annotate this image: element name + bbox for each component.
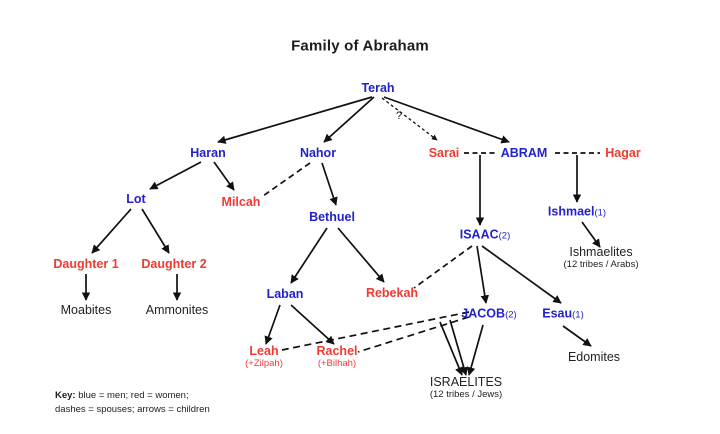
legend: Key: blue = men; red = women; dashes = s… bbox=[55, 389, 210, 417]
node-jacob-label: JACOB bbox=[461, 307, 505, 321]
node-moabites-label: Moabites bbox=[61, 303, 112, 317]
node-ishmael[interactable]: Ishmael(1) bbox=[548, 205, 606, 220]
node-hagar[interactable]: Hagar bbox=[605, 146, 640, 160]
edge-leah-israelites bbox=[450, 320, 466, 375]
node-daughter-2-label: Daughter 2 bbox=[141, 257, 206, 271]
node-daughter-1-label: Daughter 1 bbox=[53, 257, 118, 271]
node-rebekah-label: Rebekah bbox=[366, 286, 418, 300]
node-rachel-sub: (+Bilhah) bbox=[317, 359, 358, 370]
edge-terah-sarai-uncertain bbox=[382, 98, 437, 140]
edge-laban-rachel bbox=[291, 305, 334, 344]
node-leah[interactable]: Leah (+Zilpah) bbox=[245, 344, 283, 370]
node-rachel[interactable]: Rachel (+Bilhah) bbox=[317, 344, 358, 370]
edge-bethuel-laban bbox=[291, 228, 327, 283]
node-lot[interactable]: Lot bbox=[126, 192, 145, 206]
node-leah-label: Leah bbox=[249, 344, 278, 358]
node-ammonites[interactable]: Ammonites bbox=[146, 303, 209, 317]
edge-layer bbox=[0, 0, 720, 434]
node-edomites-label: Edomites bbox=[568, 350, 620, 364]
legend-line-1: Key: blue = men; red = women; bbox=[55, 389, 210, 403]
node-milcah-label: Milcah bbox=[222, 195, 261, 209]
edge-ishmael-ishmaelites bbox=[582, 222, 600, 247]
node-bethuel[interactable]: Bethuel bbox=[309, 210, 355, 224]
node-isaac[interactable]: ISAAC(2) bbox=[460, 228, 511, 243]
edge-bethuel-rebekah bbox=[338, 228, 384, 282]
node-ishmael-ordinal: (1) bbox=[594, 208, 606, 219]
node-rachel-label: Rachel bbox=[317, 344, 358, 358]
edge-esau-edomites bbox=[563, 326, 591, 346]
edge-jacob-leah-spouse bbox=[282, 312, 469, 350]
node-ishmaelites-sub: (12 tribes / Arabs) bbox=[564, 260, 639, 271]
node-ishmael-label: Ishmael bbox=[548, 205, 595, 219]
node-ammonites-label: Ammonites bbox=[146, 303, 209, 317]
node-jacob[interactable]: JACOB(2) bbox=[461, 307, 516, 322]
edge-isaac-rebekah-spouse bbox=[414, 246, 472, 288]
node-rebekah[interactable]: Rebekah bbox=[366, 286, 418, 300]
uncertain-parentage-marker: ? bbox=[396, 110, 402, 122]
node-israelites-sub: (12 tribes / Jews) bbox=[430, 390, 502, 401]
node-nahor-label: Nahor bbox=[300, 146, 336, 160]
edge-terah-nahor bbox=[324, 97, 374, 142]
edge-lot-daughter1 bbox=[92, 209, 131, 253]
node-israelites-label: ISRAELITES bbox=[430, 375, 502, 389]
node-sarai-label: Sarai bbox=[429, 146, 460, 160]
legend-text-1: blue = men; red = women; bbox=[78, 390, 188, 401]
node-abram[interactable]: ABRAM bbox=[501, 146, 548, 160]
edge-haran-lot bbox=[150, 162, 201, 189]
node-nahor[interactable]: Nahor bbox=[300, 146, 336, 160]
node-laban-label: Laban bbox=[267, 287, 304, 301]
node-isaac-label: ISAAC bbox=[460, 228, 499, 242]
edge-isaac-esau bbox=[482, 246, 561, 303]
node-israelites[interactable]: ISRAELITES (12 tribes / Jews) bbox=[430, 375, 502, 401]
node-milcah[interactable]: Milcah bbox=[222, 195, 261, 209]
node-sarai[interactable]: Sarai bbox=[429, 146, 460, 160]
node-esau[interactable]: Esau(1) bbox=[542, 307, 584, 322]
edge-rachel-israelites bbox=[440, 322, 462, 375]
node-leah-sub: (+Zilpah) bbox=[245, 359, 283, 370]
node-terah[interactable]: Terah bbox=[361, 81, 394, 95]
node-daughter-1[interactable]: Daughter 1 bbox=[53, 257, 118, 271]
edge-isaac-jacob bbox=[477, 246, 486, 303]
edge-lot-daughter2 bbox=[142, 209, 169, 253]
node-laban[interactable]: Laban bbox=[267, 287, 304, 301]
node-esau-ordinal: (1) bbox=[572, 310, 584, 321]
edge-nahor-bethuel bbox=[322, 163, 336, 205]
edge-laban-leah bbox=[266, 305, 280, 344]
node-haran[interactable]: Haran bbox=[190, 146, 225, 160]
node-jacob-ordinal: (2) bbox=[505, 310, 517, 321]
edge-jacob-israelites bbox=[469, 325, 483, 375]
node-daughter-2[interactable]: Daughter 2 bbox=[141, 257, 206, 271]
node-abram-label: ABRAM bbox=[501, 146, 548, 160]
node-hagar-label: Hagar bbox=[605, 146, 640, 160]
node-bethuel-label: Bethuel bbox=[309, 210, 355, 224]
edge-jacob-rachel-spouse bbox=[358, 317, 469, 352]
legend-line-2: dashes = spouses; arrows = children bbox=[55, 403, 210, 417]
edge-haran-milcah bbox=[214, 162, 234, 190]
node-moabites[interactable]: Moabites bbox=[61, 303, 112, 317]
edge-terah-abram bbox=[384, 97, 509, 142]
node-ishmaelites[interactable]: Ishmaelites (12 tribes / Arabs) bbox=[564, 245, 639, 271]
node-ishmaelites-label: Ishmaelites bbox=[569, 245, 632, 259]
node-terah-label: Terah bbox=[361, 81, 394, 95]
node-edomites[interactable]: Edomites bbox=[568, 350, 620, 364]
edge-terah-haran bbox=[218, 97, 372, 142]
family-tree-diagram: Family of Abraham bbox=[0, 0, 720, 434]
node-isaac-ordinal: (2) bbox=[499, 231, 511, 242]
node-lot-label: Lot bbox=[126, 192, 145, 206]
edge-nahor-milcah-spouse bbox=[263, 163, 310, 196]
page-title: Family of Abraham bbox=[291, 38, 429, 55]
legend-label: Key: bbox=[55, 390, 76, 401]
node-haran-label: Haran bbox=[190, 146, 225, 160]
node-esau-label: Esau bbox=[542, 307, 572, 321]
